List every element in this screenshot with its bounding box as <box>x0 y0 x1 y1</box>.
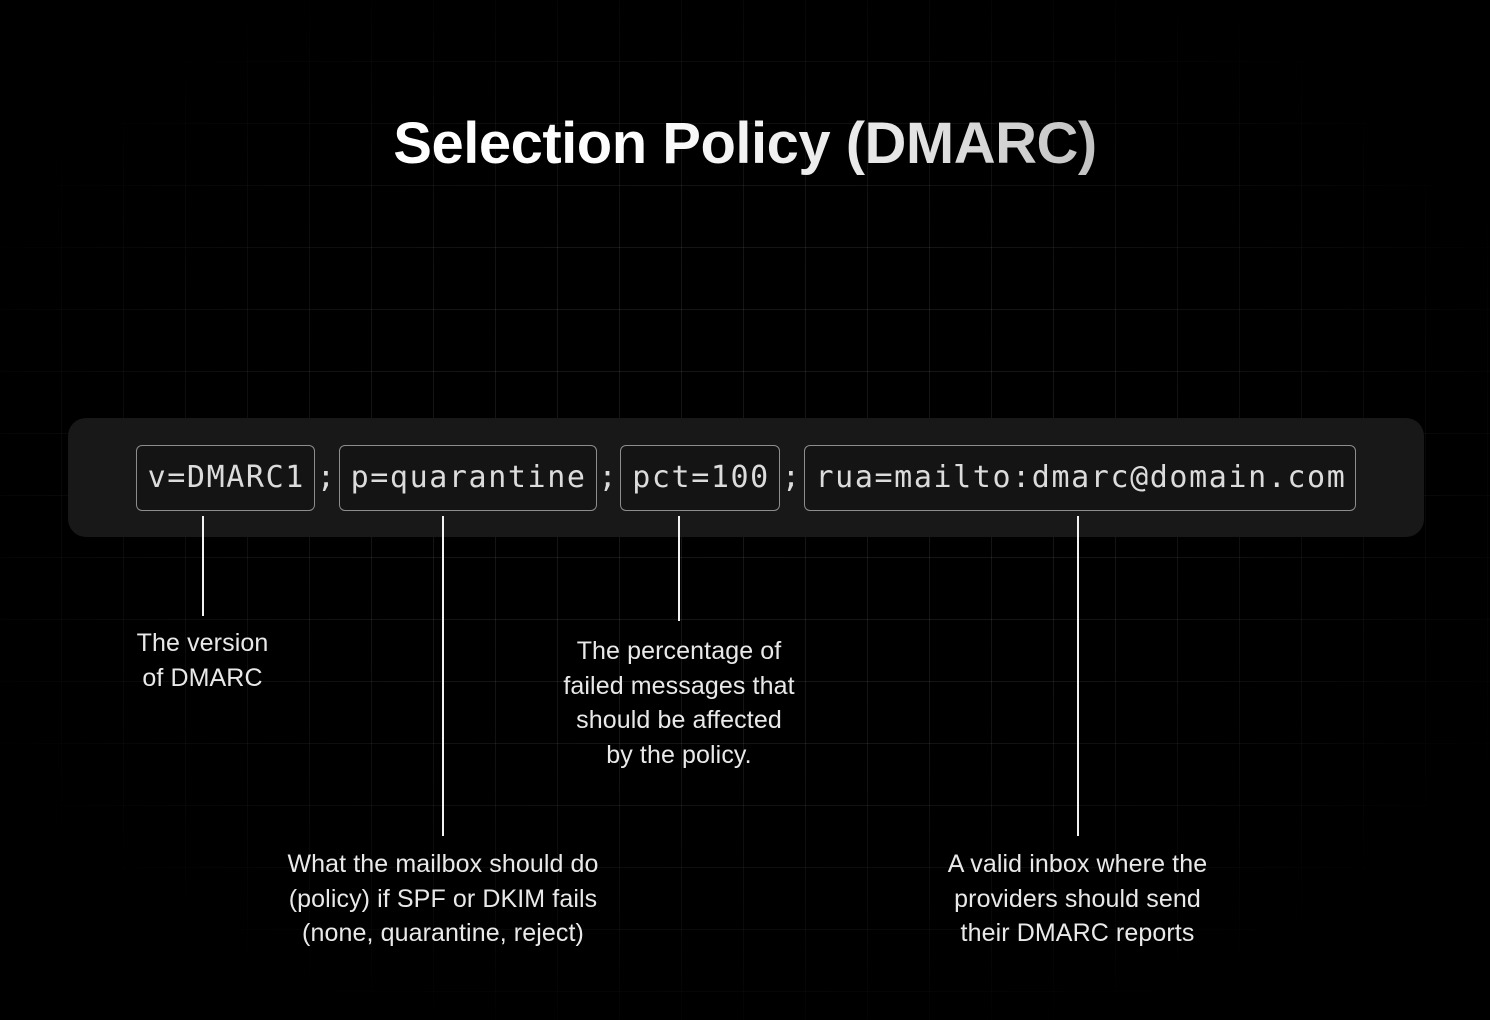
page-title: Selection Policy (DMARC) <box>0 112 1490 176</box>
code-token-version[interactable]: v=DMARC1 <box>136 445 315 511</box>
connector-line-version <box>202 516 204 616</box>
annotation-version: The version of DMARC <box>65 626 340 695</box>
slide-canvas: Selection Policy (DMARC) v=DMARC1 ; p=qu… <box>0 0 1490 1020</box>
connector-line-reporting <box>1077 516 1079 836</box>
annotation-reporting: A valid inbox where the providers should… <box>890 847 1265 951</box>
annotation-policy: What the mailbox should do (policy) if S… <box>232 847 654 951</box>
dmarc-record-panel: v=DMARC1 ; p=quarantine ; pct=100 ; rua=… <box>68 418 1424 537</box>
connector-line-policy <box>442 516 444 836</box>
connector-line-percent <box>678 516 680 621</box>
code-token-reporting[interactable]: rua=mailto:dmarc@domain.com <box>804 445 1357 511</box>
code-separator: ; <box>597 463 621 493</box>
code-token-policy[interactable]: p=quarantine <box>339 445 597 511</box>
code-separator: ; <box>315 463 339 493</box>
annotation-percent: The percentage of failed messages that s… <box>500 634 858 772</box>
code-separator: ; <box>780 463 804 493</box>
code-token-percent[interactable]: pct=100 <box>620 445 780 511</box>
dmarc-record-line: v=DMARC1 ; p=quarantine ; pct=100 ; rua=… <box>136 445 1357 511</box>
